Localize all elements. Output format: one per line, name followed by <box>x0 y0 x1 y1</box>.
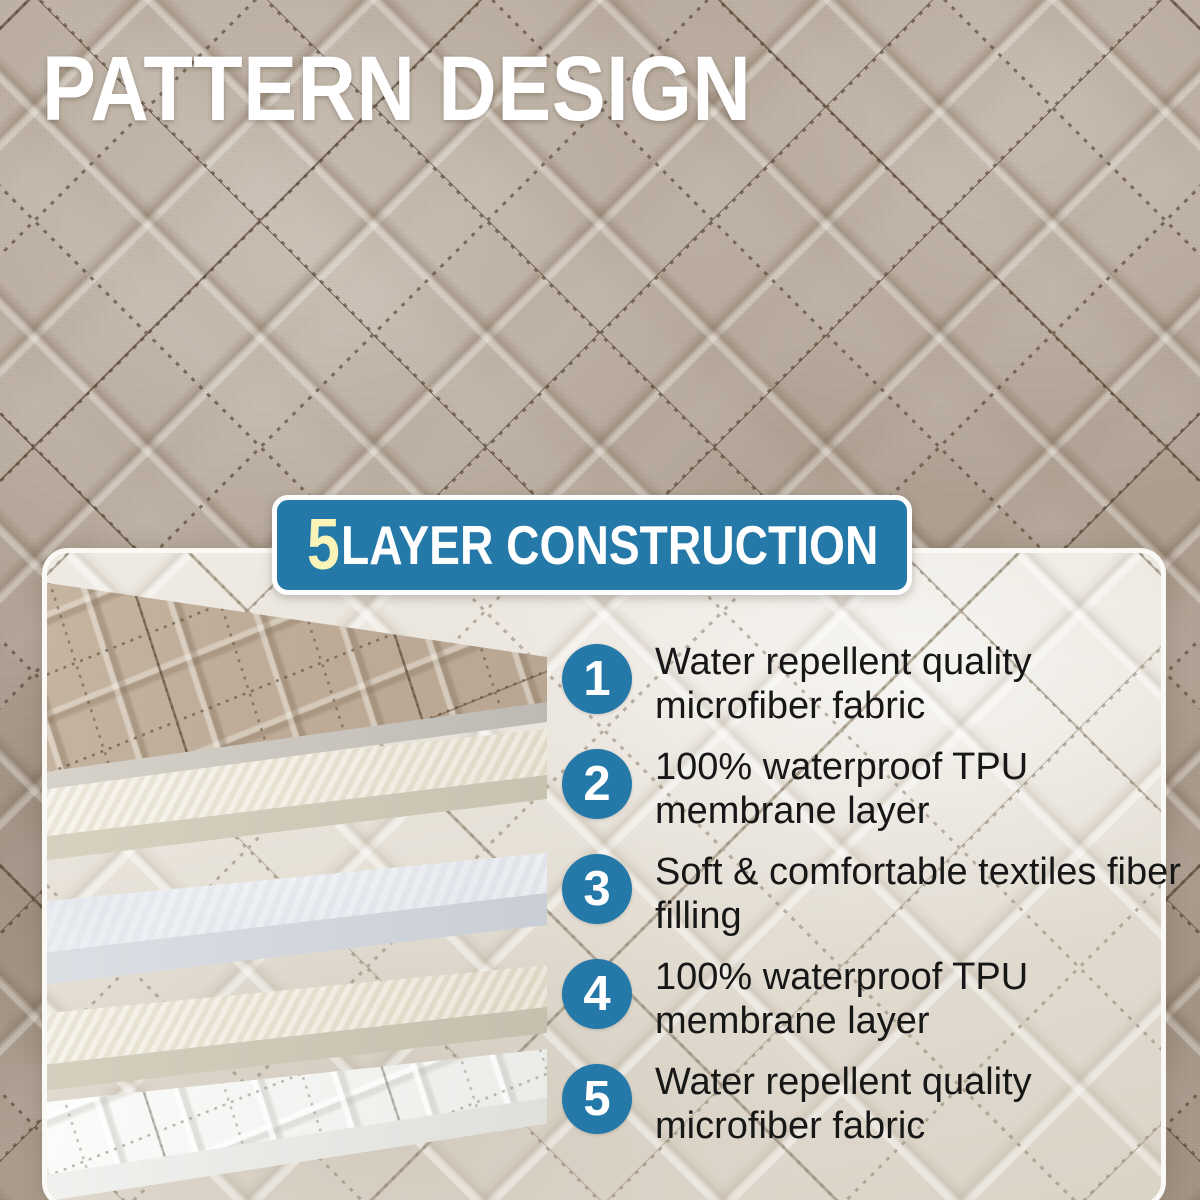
layer-label-5: Water repellent quality microfiber fabri… <box>655 1060 1182 1148</box>
list-item: 2 100% waterproof TPU membrane layer <box>562 745 1182 850</box>
layer-badge-2: 2 <box>562 749 632 819</box>
layer-stack-illustration <box>47 553 567 1200</box>
layer-label-1: Water repellent quality microfiber fabri… <box>655 640 1182 728</box>
layer-badge-4: 4 <box>562 959 632 1029</box>
layer-list: 1 Water repellent quality microfiber fab… <box>562 640 1182 1165</box>
banner-layer-count: 5 <box>307 509 340 581</box>
infographic-canvas: PATTERN DESIGN <box>0 0 1200 1200</box>
layer-construction-banner: 5 LAYER CONSTRUCTION <box>272 495 912 595</box>
list-item: 3 Soft & comfortable textiles fiber fill… <box>562 850 1182 955</box>
layer-badge-1: 1 <box>562 644 632 714</box>
page-title: PATTERN DESIGN <box>42 46 751 133</box>
layer-label-2: 100% waterproof TPU membrane layer <box>655 745 1182 833</box>
layer-label-4: 100% waterproof TPU membrane layer <box>655 955 1182 1043</box>
layer-badge-3: 3 <box>562 854 632 924</box>
list-item: 4 100% waterproof TPU membrane layer <box>562 955 1182 1060</box>
layer-label-3: Soft & comfortable textiles fiber fillin… <box>655 850 1182 938</box>
layer-badge-5: 5 <box>562 1064 632 1134</box>
banner-label: LAYER CONSTRUCTION <box>341 518 878 573</box>
list-item: 5 Water repellent quality microfiber fab… <box>562 1060 1182 1165</box>
list-item: 1 Water repellent quality microfiber fab… <box>562 640 1182 745</box>
